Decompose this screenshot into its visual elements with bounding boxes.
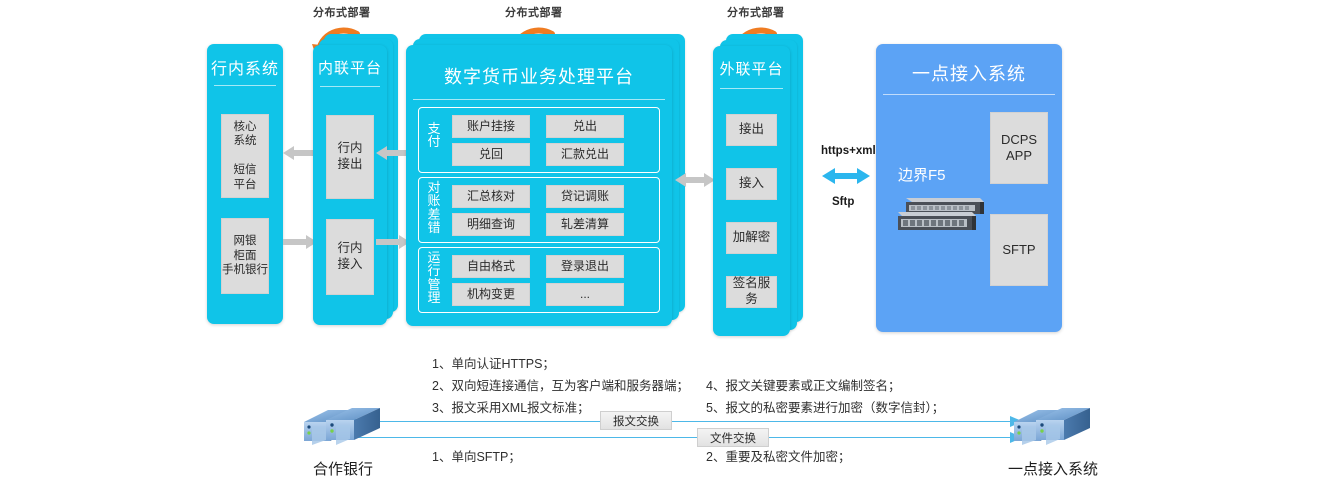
dcep-group-payment: 支付 账户挂接 兑出 兑回 汇款兑出 xyxy=(418,107,660,173)
panel-single-access-system-title: 一点接入系统 xyxy=(876,60,1062,86)
link-label-https-xml: https+xml xyxy=(821,145,876,157)
dcep-group-reconciliation: 对账差错 汇总核对 贷记调账 明细查询 轧差清算 xyxy=(418,177,660,243)
note-left-0: 1、单向认证HTTPS； xyxy=(432,353,555,372)
panel-external-platform: 外联平台 接出 接入 加解密 签名服务 xyxy=(713,46,790,336)
external-box-crypto: 加解密 xyxy=(726,222,777,254)
dcep-item-operations-2: 机构变更 xyxy=(452,283,530,306)
dcep-item-payment-2: 兑回 xyxy=(452,143,530,166)
dcep-item-operations-3: ... xyxy=(546,283,624,306)
dcep-item-payment-3: 汇款兑出 xyxy=(546,143,624,166)
dcep-item-reconciliation-0: 汇总核对 xyxy=(452,185,530,208)
boundary-f5-label: 边界F5 xyxy=(898,164,946,185)
dcep-item-reconciliation-3: 轧差清算 xyxy=(546,213,624,236)
single-access-server-icon xyxy=(1008,405,1096,451)
note-right-lower-0: 2、重要及私密文件加密； xyxy=(706,446,850,465)
intranet-box-in: 行内 接入 xyxy=(326,219,374,295)
dcep-group-payment-label: 支付 xyxy=(426,122,442,149)
distributed-label-3: 分布式部署 xyxy=(727,4,785,20)
partner-bank-caption: 合作银行 xyxy=(298,458,388,479)
dcep-item-reconciliation-1: 贷记调账 xyxy=(546,185,624,208)
dcep-group-reconciliation-label: 对账差错 xyxy=(426,181,442,234)
arrow-dcep-external-bidirectional xyxy=(675,171,715,189)
dcep-item-operations-0: 自由格式 xyxy=(452,255,530,278)
intranet-box-out: 行内 接出 xyxy=(326,115,374,199)
panel-intranet-platform-title: 内联平台 xyxy=(313,57,387,78)
dcep-item-operations-1: 登录退出 xyxy=(546,255,624,278)
exchange-chip-file: 文件交换 xyxy=(697,428,769,447)
external-box-in: 接入 xyxy=(726,168,777,200)
partner-bank-server-icon xyxy=(298,405,386,451)
access-box-sftp: SFTP xyxy=(990,214,1048,286)
note-left-lower-0: 1、单向SFTP； xyxy=(432,446,521,465)
distributed-label-2: 分布式部署 xyxy=(505,4,563,20)
note-left-1: 2、双向短连接通信，互为客户端和服务器端； xyxy=(432,375,689,394)
distributed-label-1: 分布式部署 xyxy=(313,4,371,20)
dcep-group-operations: 运行管理 自由格式 登录退出 机构变更 ... xyxy=(418,247,660,313)
external-box-signature: 签名服务 xyxy=(726,276,777,308)
dcep-item-payment-0: 账户挂接 xyxy=(452,115,530,138)
panel-single-access-system: 一点接入系统 边界F5 xyxy=(876,44,1062,332)
arrow-external-access-bidirectional xyxy=(822,165,870,187)
dcep-group-operations-label: 运行管理 xyxy=(426,251,442,304)
arrow-intranet-to-dcep xyxy=(376,234,410,250)
panel-intranet-platform: 内联平台 行内 接出 行内 接入 xyxy=(313,45,387,325)
panel-external-platform-title: 外联平台 xyxy=(713,58,790,79)
inhouse-box-core: 核心 系统 短信 平台 xyxy=(221,114,269,198)
note-left-2: 3、报文采用XML报文标准； xyxy=(432,397,590,416)
note-right-0: 4、报文关键要素或正文编制签名； xyxy=(706,375,900,394)
dcep-item-reconciliation-2: 明细查询 xyxy=(452,213,530,236)
access-box-dcps-app: DCPS APP xyxy=(990,112,1048,184)
panel-dcep-platform: 数字货币业务处理平台 支付 账户挂接 兑出 兑回 汇款兑出 对账差错 汇总核对 … xyxy=(406,45,672,326)
link-label-sftp: Sftp xyxy=(832,196,854,208)
note-right-1: 5、报文的私密要素进行加密（数字信封）； xyxy=(706,397,944,416)
inhouse-box-channels: 网银 柜面 手机银行 xyxy=(221,218,269,294)
exchange-chip-message: 报文交换 xyxy=(600,411,672,430)
network-switch-icon xyxy=(894,192,986,234)
single-access-caption: 一点接入系统 xyxy=(1000,458,1106,479)
dcep-item-payment-1: 兑出 xyxy=(546,115,624,138)
panel-inhouse-system: 行内系统 核心 系统 短信 平台 网银 柜面 手机银行 xyxy=(207,44,283,324)
arrow-inhouse-from-intranet xyxy=(283,145,317,161)
message-exchange-line xyxy=(350,421,1018,422)
arrow-inhouse-to-intranet xyxy=(283,234,317,250)
architecture-diagram: 分布式部署 分布式部署 分布式部署 行内系统 核心 系统 短信 平台 网银 柜面… xyxy=(0,0,1333,483)
arrow-intranet-from-dcep xyxy=(376,145,410,161)
panel-inhouse-system-title: 行内系统 xyxy=(207,55,283,79)
panel-dcep-platform-title: 数字货币业务处理平台 xyxy=(406,63,672,89)
external-box-out: 接出 xyxy=(726,114,777,146)
file-exchange-line xyxy=(350,437,1018,438)
